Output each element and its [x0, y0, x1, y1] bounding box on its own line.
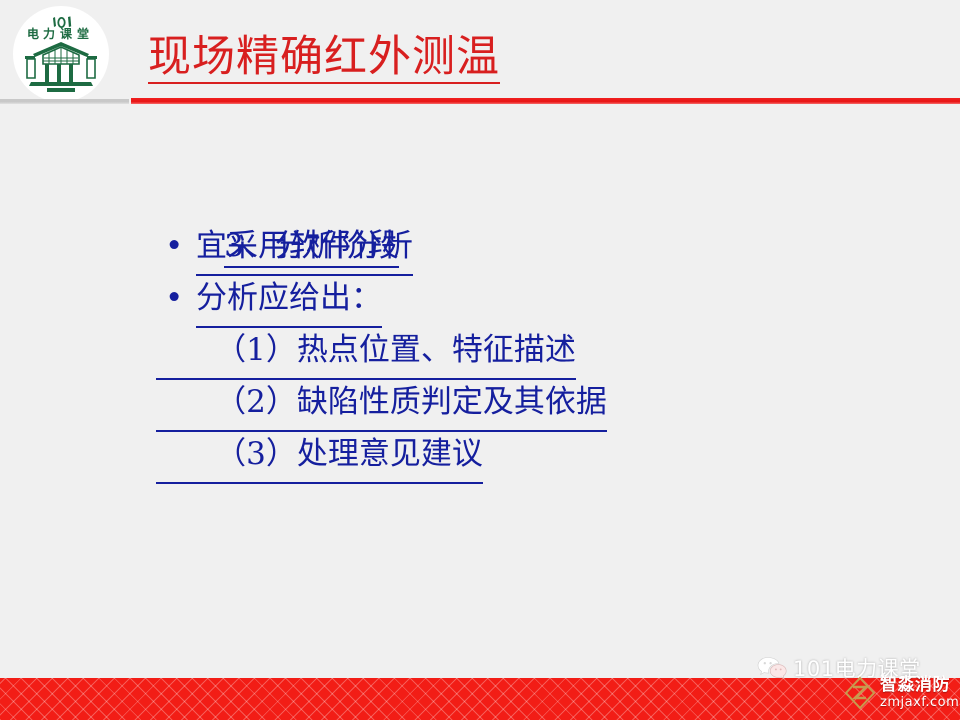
- sub-item-3: （3）处理意见建议: [156, 428, 483, 484]
- logo-emblem-icon: 电 力 课 堂: [13, 6, 109, 102]
- bullet-item-1: • 宜采用软件分析: [165, 220, 413, 276]
- zmjaxf-text-block: 智淼消防 zmjaxf.com: [880, 677, 959, 709]
- slide-canvas: 电 力 课 堂: [0, 0, 960, 720]
- svg-text:课: 课: [60, 26, 73, 41]
- page-title: 现场精确红外测温: [148, 33, 500, 84]
- sub-item-1: （1）热点位置、特征描述: [156, 324, 576, 380]
- bullet-item-2: • 分析应给出：: [165, 272, 382, 328]
- bullet-item-1-text: 宜采用软件分析: [196, 220, 413, 276]
- svg-text:力: 力: [43, 26, 55, 41]
- zmjaxf-logo-icon: [843, 676, 877, 710]
- bullet-dot-icon: •: [165, 272, 196, 324]
- bullet-dot-icon: •: [165, 220, 196, 272]
- sub-item-2: （2）缺陷性质判定及其依据: [156, 376, 607, 432]
- 101-dianli-ketang-logo: 电 力 课 堂: [13, 6, 109, 102]
- header-divider-red: [131, 98, 960, 104]
- svg-text:堂: 堂: [77, 26, 89, 41]
- slide-header: 电 力 课 堂: [0, 0, 960, 112]
- bullet-item-2-text: 分析应给出：: [196, 272, 382, 328]
- wechat-icon: [757, 656, 787, 680]
- zmjaxf-watermark: 智淼消防 zmjaxf.com: [843, 676, 959, 710]
- zmjaxf-url: zmjaxf.com: [880, 696, 959, 709]
- zmjaxf-brand-cn: 智淼消防: [880, 677, 959, 694]
- footer-red-band: [0, 678, 960, 720]
- header-divider-gray: [0, 99, 129, 104]
- svg-text:电: 电: [27, 26, 39, 41]
